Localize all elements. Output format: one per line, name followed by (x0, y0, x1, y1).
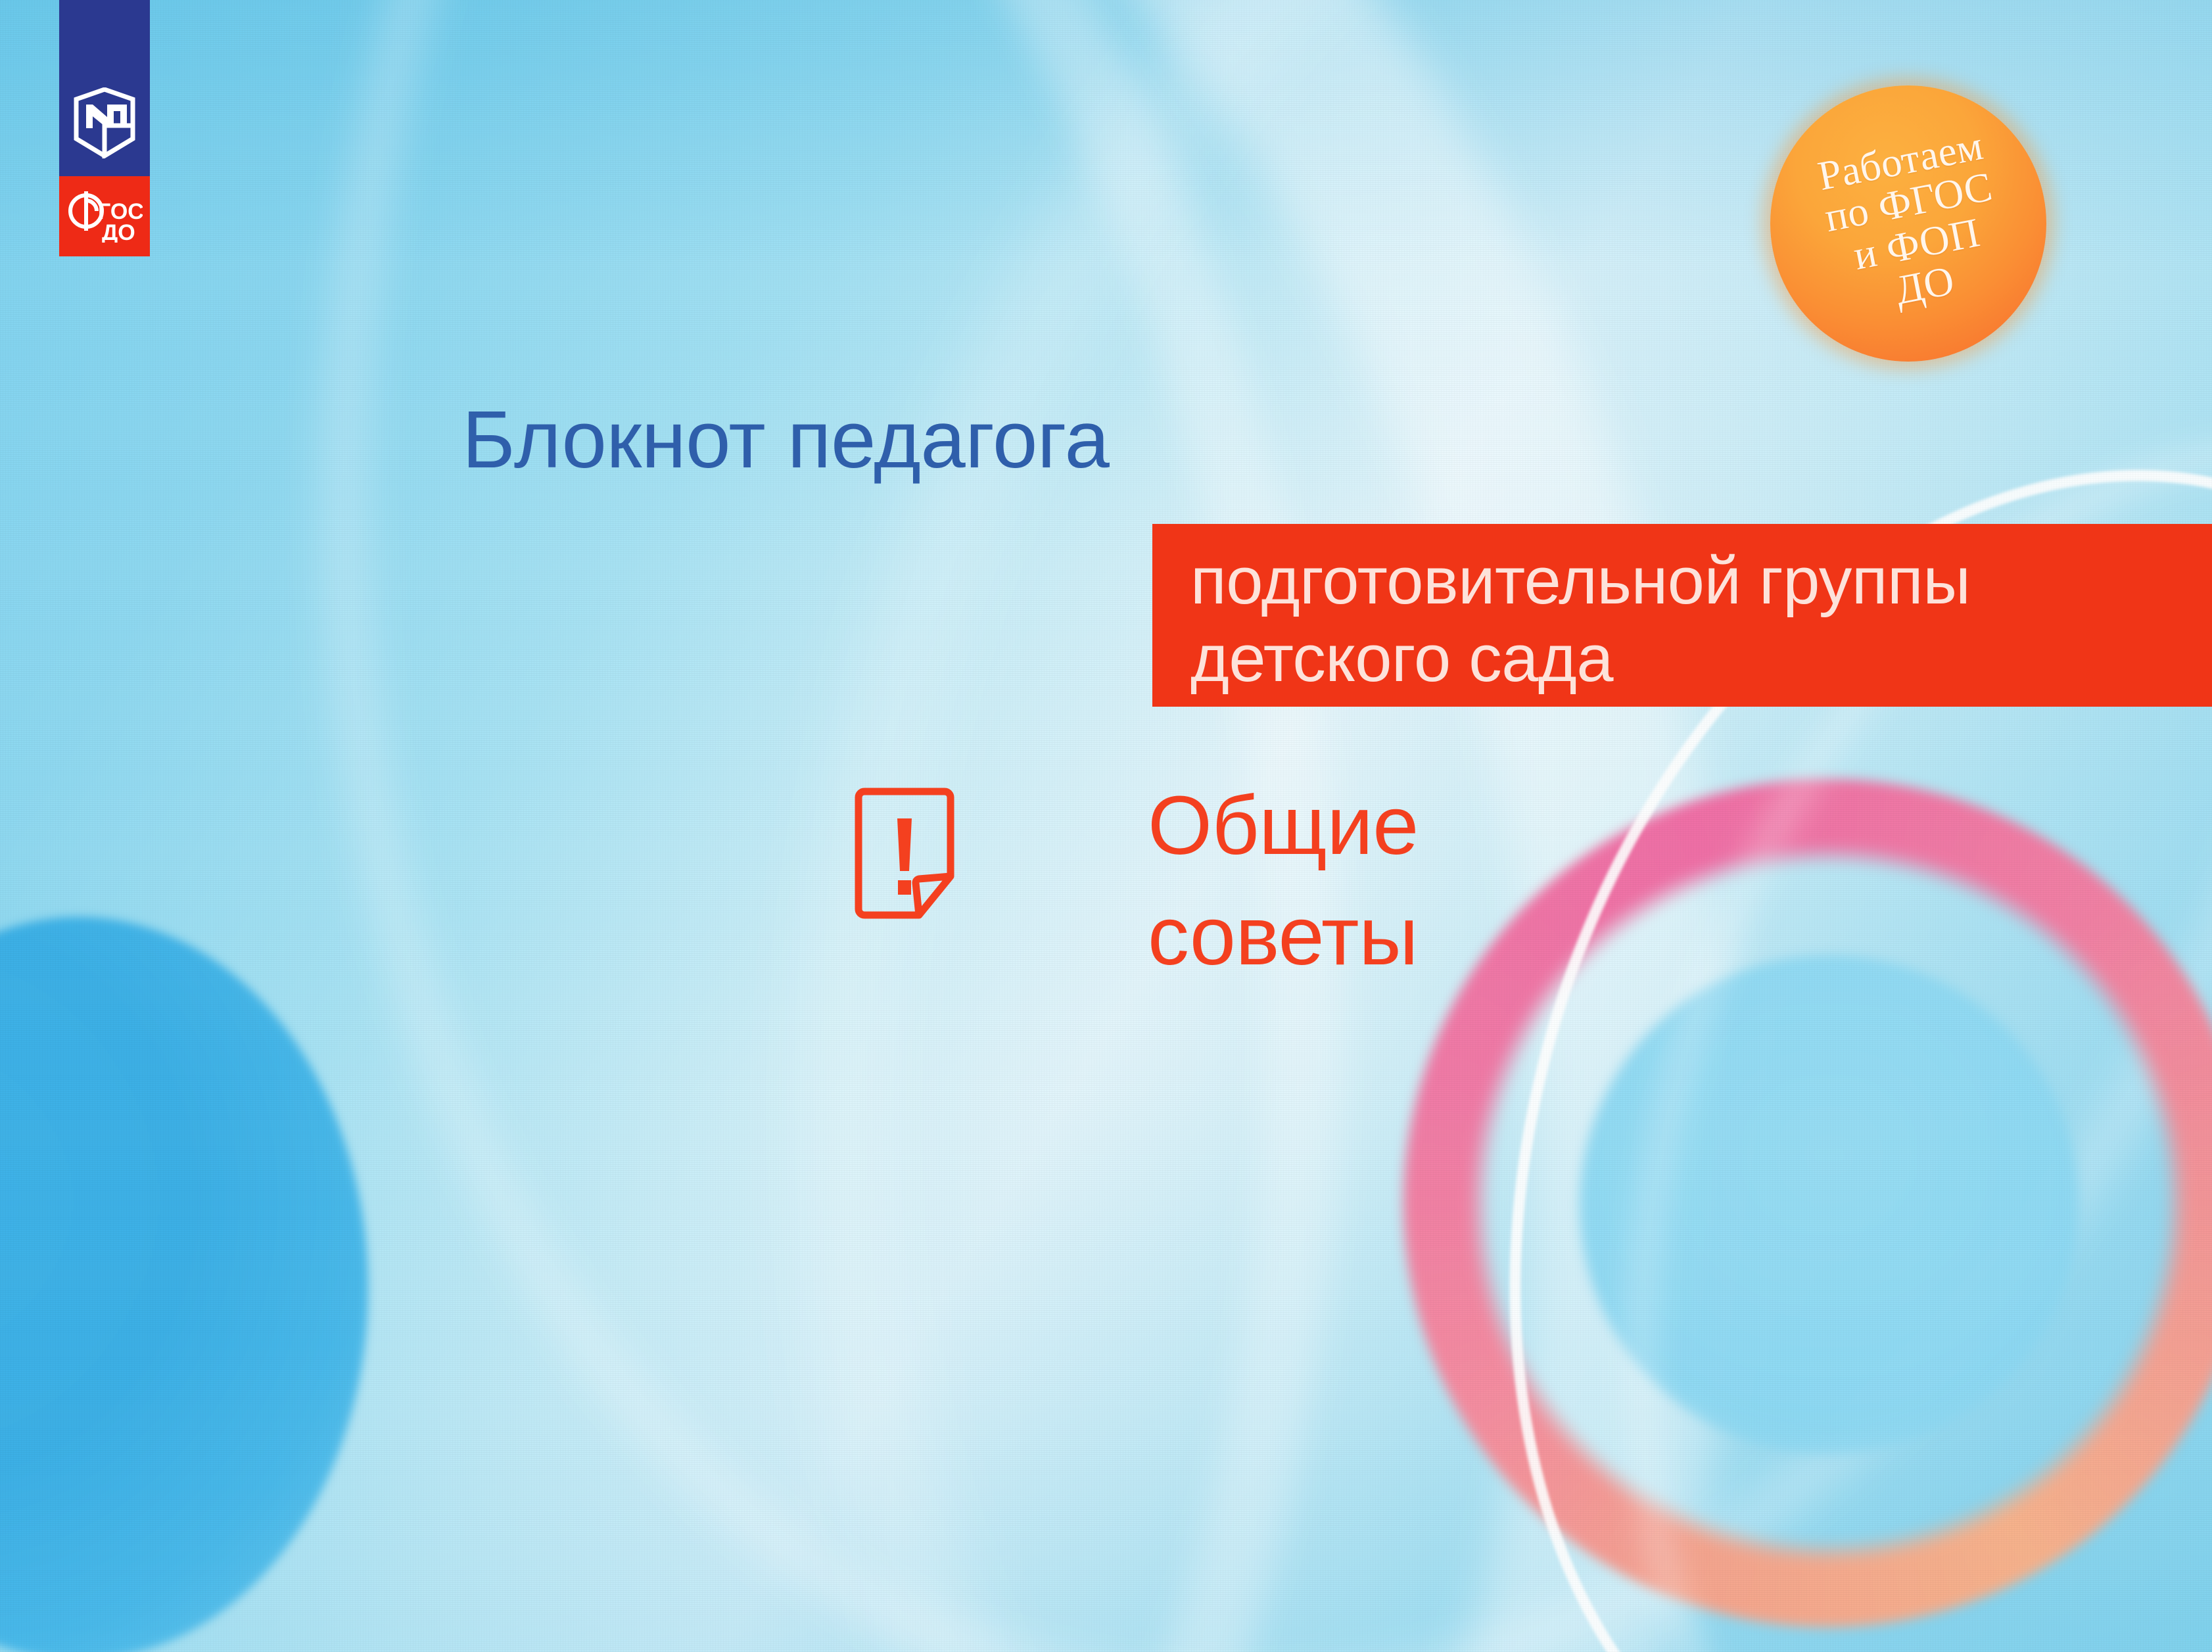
subtitle-line-1: подготовительной группы (1190, 542, 2212, 620)
fgos-do-mark-icon: ГОС ДО (66, 187, 143, 246)
note-exclamation-icon (851, 784, 958, 922)
imprint-shield-icon (73, 87, 136, 162)
subtitle-line-2: детского сада (1190, 620, 2212, 697)
publisher-logo: ГОС ДО (59, 0, 150, 256)
section-title: Общие советы (1148, 770, 1419, 991)
subtitle-banner: подготовительной группы детского сада (1152, 524, 2212, 707)
svg-text:ДО: ДО (102, 220, 135, 243)
section-title-line-1: Общие (1148, 770, 1419, 881)
fgos-fop-badge: Работаем по ФГОС и ФОП ДО (1770, 85, 2046, 362)
badge-label: Работаем по ФГОС и ФОП ДО (1804, 124, 2012, 323)
book-cover: ГОС ДО Работаем по ФГОС и ФОП ДО Блокнот… (0, 0, 2212, 1652)
publisher-imprint-block (59, 0, 150, 176)
publisher-standard-block: ГОС ДО (59, 176, 150, 256)
page-title: Блокнот педагога (462, 400, 1109, 481)
section-title-line-2: советы (1148, 881, 1419, 991)
